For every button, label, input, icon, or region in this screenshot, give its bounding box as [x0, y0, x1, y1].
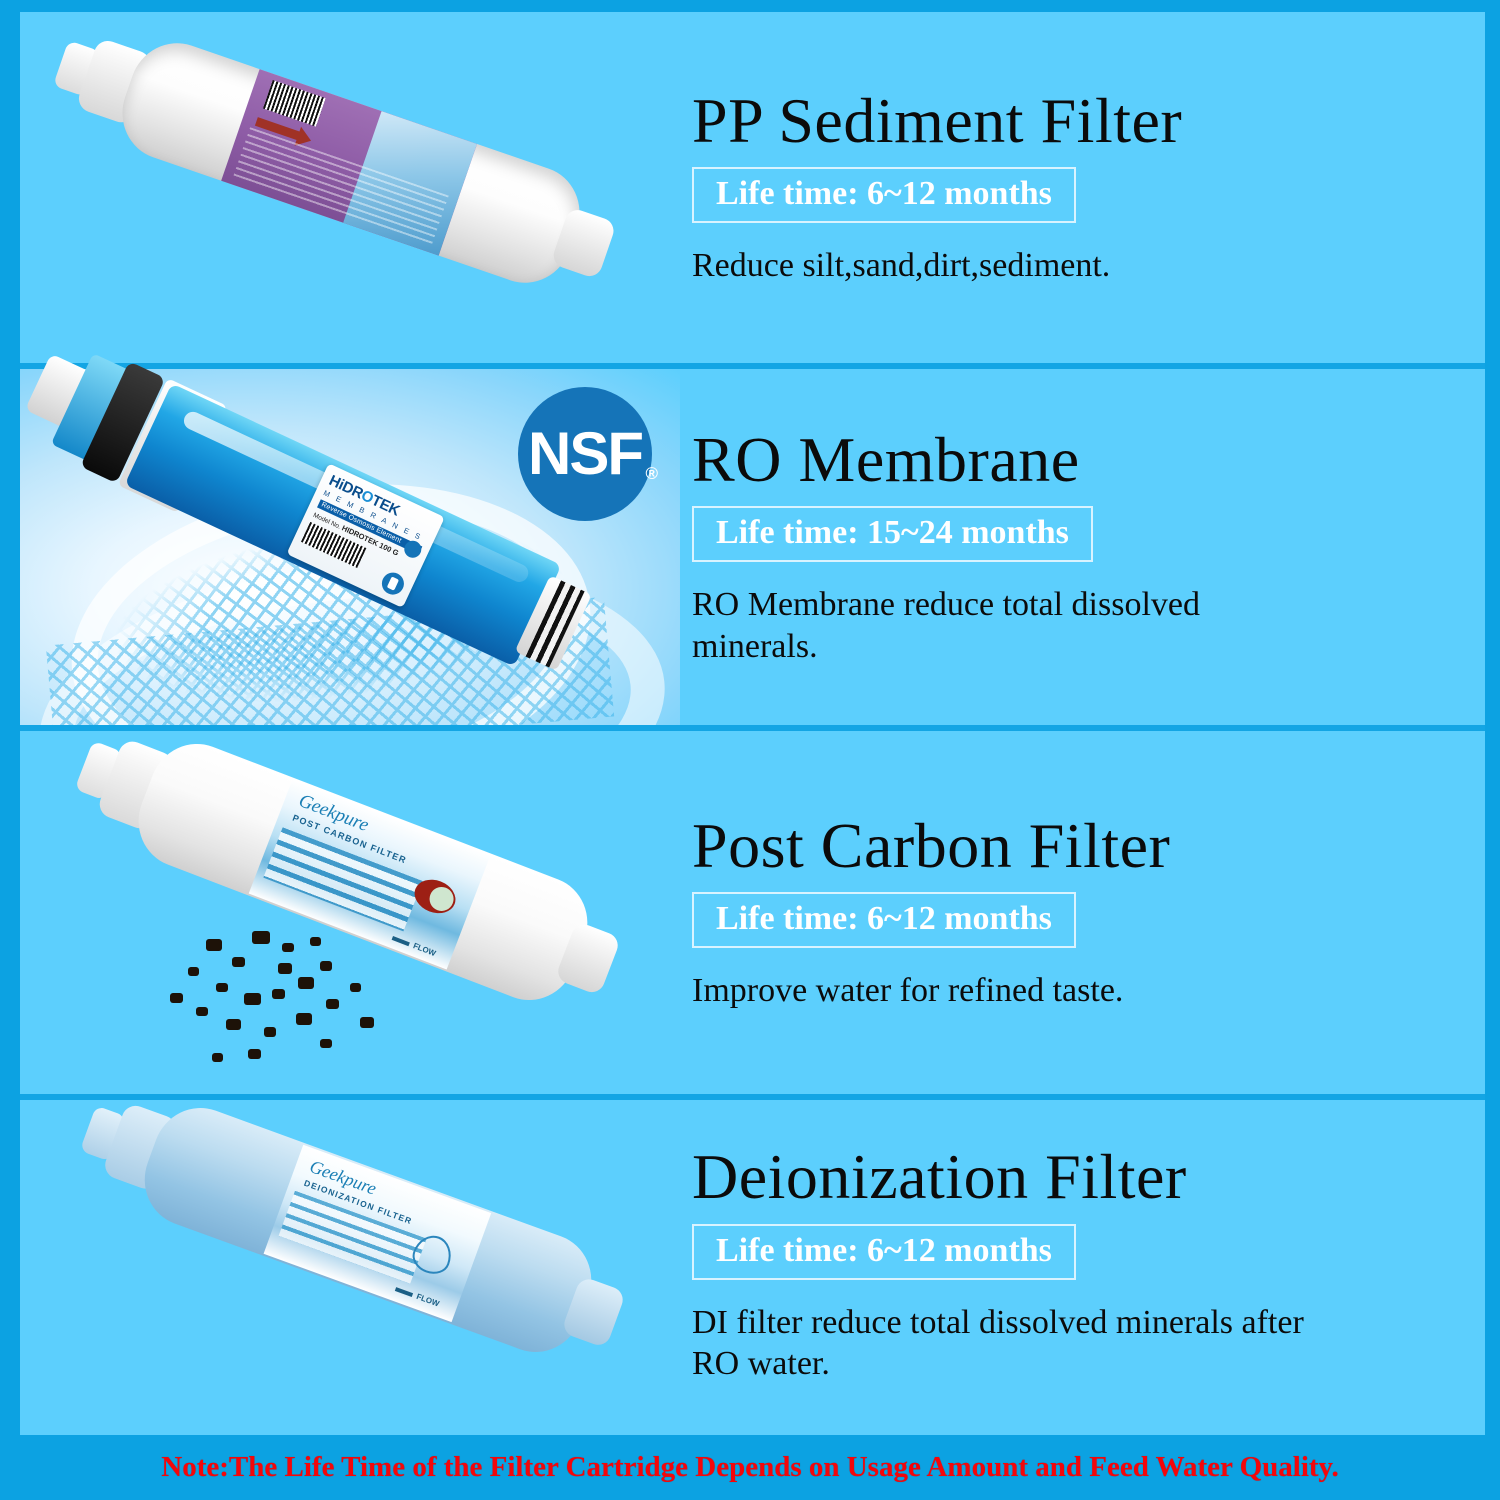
panel-info-pp-sediment-filter: PP Sediment Filter Life time: 6~12 month… — [680, 88, 1485, 287]
panel-title: PP Sediment Filter — [692, 88, 1485, 153]
infographic-sheet: PP Sediment Filter Life time: 6~12 month… — [0, 0, 1500, 1500]
panel-title: Deionization Filter — [692, 1144, 1485, 1209]
product-image-deionization-filter: Geekpure DEIONIZATION FILTER FLOW — [20, 1100, 680, 1429]
carbon-granule — [196, 1007, 208, 1016]
product-image-pp-sediment-filter — [20, 12, 680, 363]
panel-stack: PP Sediment Filter Life time: 6~12 month… — [20, 12, 1485, 1435]
panel-pp-sediment-filter: PP Sediment Filter Life time: 6~12 month… — [20, 12, 1485, 369]
product-image-post-carbon-filter: Geekpure POST CARBON FILTER FLOW — [20, 731, 680, 1094]
cartridge-label: Geekpure DEIONIZATION FILTER FLOW — [264, 1145, 492, 1322]
carbon-granule — [272, 989, 285, 999]
carbon-granule — [212, 1053, 223, 1062]
panel-description: DI filter reduce total dissolved mineral… — [692, 1302, 1332, 1385]
lifetime-badge: Life time: 6~12 months — [692, 167, 1076, 223]
footer-note-text: Note:The Life Time of the Filter Cartrid… — [161, 1451, 1338, 1484]
lifetime-text: Life time: 6~12 months — [716, 1232, 1052, 1269]
panel-post-carbon-filter: Geekpure POST CARBON FILTER FLOW — [20, 731, 1485, 1100]
product-image-ro-membrane: HiDROTEK M E M B R A N E S Reverse Osmos… — [20, 369, 680, 725]
panel-info-ro-membrane: RO Membrane Life time: 15~24 months RO M… — [680, 427, 1485, 667]
flow-arrow-icon: FLOW — [415, 1292, 440, 1309]
panel-title: Post Carbon Filter — [692, 813, 1485, 878]
label-wave-graphic — [263, 827, 422, 931]
lifetime-badge: Life time: 15~24 months — [692, 506, 1093, 562]
carbon-granule — [206, 939, 222, 951]
deionization-filter-cartridge-icon: Geekpure DEIONIZATION FILTER FLOW — [131, 1095, 604, 1365]
carbon-granule — [282, 943, 294, 952]
panel-ro-membrane: HiDROTEK M E M B R A N E S Reverse Osmos… — [20, 369, 1485, 731]
panel-deionization-filter: Geekpure DEIONIZATION FILTER FLOW Deioni… — [20, 1100, 1485, 1429]
carbon-granule — [244, 993, 261, 1005]
lifetime-badge: Life time: 6~12 months — [692, 892, 1076, 948]
carbon-granule — [296, 1013, 312, 1025]
nsf-certification-badge-icon: NSF® — [518, 387, 652, 521]
lifetime-badge: Life time: 6~12 months — [692, 1224, 1076, 1280]
nsf-badge-text: NSF® — [528, 424, 642, 484]
carbon-granule — [170, 993, 183, 1003]
footer-note: Note:The Life Time of the Filter Cartrid… — [0, 1435, 1500, 1500]
lifetime-text: Life time: 6~12 months — [716, 900, 1052, 937]
panel-description: RO Membrane reduce total dissolved miner… — [692, 584, 1332, 667]
carbon-granule — [320, 961, 332, 971]
lifetime-text: Life time: 6~12 months — [716, 175, 1052, 212]
carbon-granule — [226, 1019, 241, 1030]
carbon-granule — [264, 1027, 276, 1037]
panel-description: Improve water for refined taste. — [692, 970, 1332, 1011]
registered-mark-icon: ® — [645, 465, 656, 482]
carbon-granule — [188, 967, 199, 976]
panel-description: Reduce silt,sand,dirt,sediment. — [692, 245, 1332, 286]
carbon-granule — [298, 977, 314, 989]
carbon-granule — [310, 937, 321, 946]
lifetime-text: Life time: 15~24 months — [716, 514, 1069, 551]
flow-arrow-icon: FLOW — [412, 941, 437, 958]
cartridge-label — [221, 69, 477, 255]
panel-title: RO Membrane — [692, 427, 1485, 492]
water-drop-icon — [378, 569, 407, 598]
pp-sediment-filter-cartridge-icon — [110, 31, 593, 296]
carbon-granule — [248, 1049, 261, 1059]
carbon-granule — [278, 963, 292, 974]
carbon-granule — [232, 957, 245, 967]
carbon-granule — [360, 1017, 374, 1028]
carbon-granule — [326, 999, 339, 1009]
carbon-granule — [320, 1039, 332, 1048]
carbon-granule — [216, 983, 228, 992]
carbon-granule — [350, 983, 361, 992]
panel-info-deionization-filter: Deionization Filter Life time: 6~12 mont… — [680, 1144, 1485, 1384]
barcode-icon — [263, 80, 326, 127]
carbon-granule — [252, 931, 270, 944]
panel-info-post-carbon-filter: Post Carbon Filter Life time: 6~12 month… — [680, 813, 1485, 1012]
